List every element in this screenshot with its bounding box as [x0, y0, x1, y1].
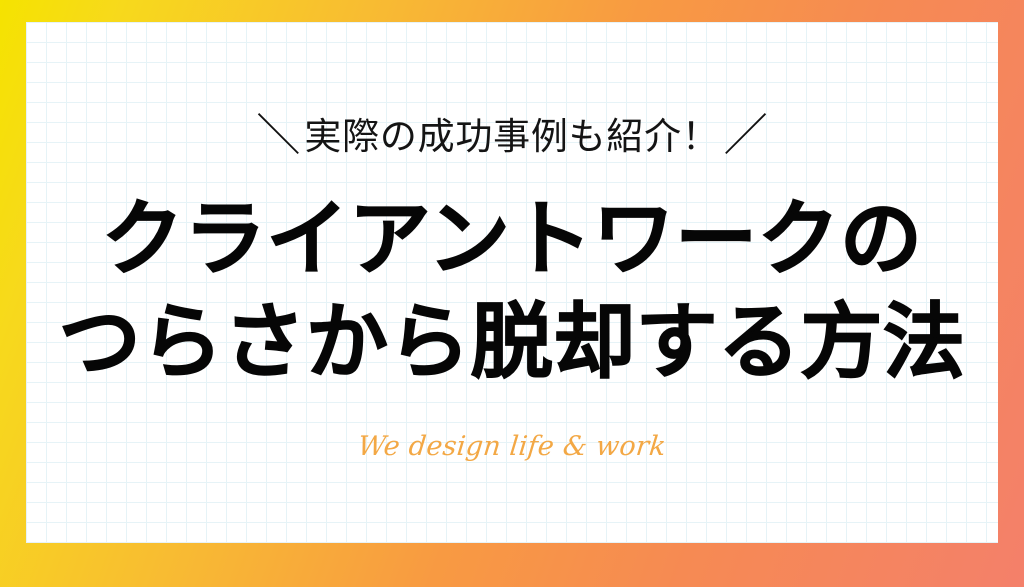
headline-block: クライアントワークの つらさから脱却する方法 [59, 188, 966, 395]
left-slash-icon: ＼ [256, 114, 300, 158]
subtitle-row: ＼ 実際の成功事例も紹介！ ／ [256, 114, 767, 158]
headline-line-1: クライアントワークの [59, 188, 966, 291]
headline-line-2: つらさから脱却する方法 [59, 291, 966, 394]
subtitle-text: 実際の成功事例も紹介！ [304, 118, 719, 155]
tagline-text: We design life & work [357, 433, 668, 460]
promo-banner: ＼ 実際の成功事例も紹介！ ／ クライアントワークの つらさから脱却する方法 W… [0, 0, 1024, 587]
banner-content: ＼ 実際の成功事例も紹介！ ／ クライアントワークの つらさから脱却する方法 W… [26, 22, 998, 543]
right-slash-icon: ／ [724, 114, 768, 158]
grid-paper-panel: ＼ 実際の成功事例も紹介！ ／ クライアントワークの つらさから脱却する方法 W… [26, 22, 998, 543]
